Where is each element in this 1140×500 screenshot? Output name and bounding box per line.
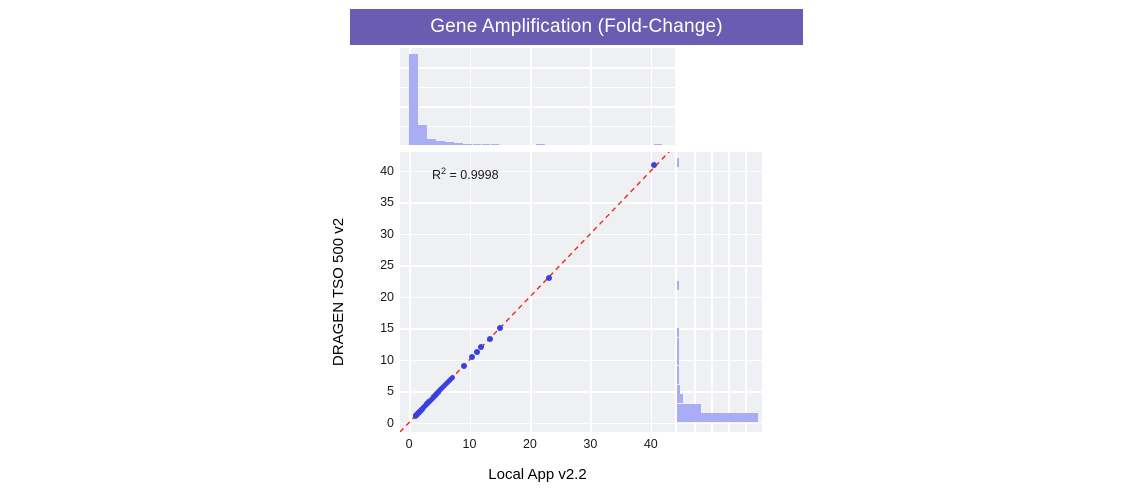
histogram-bar [677,338,679,347]
histogram-bar [491,144,500,146]
gridline-vertical [651,48,653,145]
histogram-bar [427,139,436,145]
r-squared-text: R2 = 0.9998 [432,168,499,182]
gridline-horizontal [400,87,675,89]
histogram-bar [436,141,445,145]
gridline-horizontal [400,234,675,236]
histogram-bar [454,143,463,145]
chart-title-bar: Gene Amplification (Fold-Change) [350,9,803,45]
gridline-horizontal [677,328,762,330]
top-marginal-histogram-panel [400,48,675,145]
histogram-bar [677,356,679,365]
gridline-horizontal [677,202,762,204]
histogram-bar [677,394,683,403]
gridline-vertical [470,152,472,432]
histogram-bar [418,125,427,145]
gridline-horizontal [400,328,675,330]
gridline-vertical [728,152,730,432]
gridline-horizontal [400,67,675,69]
gridline-vertical [590,152,592,432]
histogram-bar [677,347,679,356]
gridline-horizontal [677,391,762,393]
x-tick-label: 10 [450,437,490,451]
histogram-bar [677,366,679,375]
y-tick-label: 10 [354,353,394,367]
histogram-bar [536,144,545,146]
x-tick-label: 20 [510,437,550,451]
histogram-bar [677,328,679,337]
histogram-bar [677,375,679,384]
y-tick-label: 40 [354,164,394,178]
scatter-point [478,344,484,350]
scatter-point [461,363,467,369]
gridline-horizontal [400,423,675,425]
gridline-vertical [711,152,713,432]
histogram-bar [677,413,758,422]
gridline-horizontal [400,106,675,108]
gridline-vertical [530,48,532,145]
y-axis-tick-labels: 0510152025303540 [352,152,394,432]
y-tick-label: 20 [354,290,394,304]
histogram-bar [677,385,680,394]
gridline-horizontal [400,297,675,299]
gridline-horizontal [677,234,762,236]
gridline-horizontal [677,297,762,299]
gridline-horizontal [400,126,675,128]
histogram-bar [473,144,482,146]
gridline-vertical [694,152,696,432]
y-tick-label: 5 [354,384,394,398]
gridline-horizontal [400,202,675,204]
gridline-horizontal [677,171,762,173]
histogram-bar [677,281,679,290]
gridline-vertical [590,48,592,145]
x-tick-label: 40 [631,437,671,451]
y-axis-title: DRAGEN TSO 500 v2 [330,152,350,432]
histogram-bar [677,404,701,413]
r-squared-annotation: R2 = 0.9998 [432,166,499,182]
gridline-horizontal [677,265,762,267]
chart-figure: Gene Amplification (Fold-Change) R2 = 0.… [0,0,1140,500]
histogram-bar [482,144,491,146]
gridline-horizontal [400,360,675,362]
gridline-vertical [470,48,472,145]
histogram-bar [409,54,418,145]
x-tick-label: 0 [389,437,429,451]
x-tick-label: 30 [570,437,610,451]
x-axis-tick-labels: 010203040 [400,437,675,457]
gridline-vertical [651,152,653,432]
histogram-bar [677,158,679,167]
y-tick-label: 25 [354,258,394,272]
scatter-point [497,325,503,331]
histogram-bar [463,144,472,146]
y-tick-label: 35 [354,195,394,209]
scatter-point [487,336,493,342]
scatter-point [450,375,455,380]
scatter-plot-panel: R2 = 0.9998 [400,152,675,432]
page-title: Gene Amplification (Fold-Change) [430,16,723,38]
gridline-vertical [530,152,532,432]
gridline-vertical [745,152,747,432]
gridline-horizontal [677,423,762,425]
y-tick-label: 30 [354,227,394,241]
gridline-vertical [409,152,411,432]
right-marginal-histogram-panel [677,152,762,432]
scatter-point [651,162,657,168]
y-tick-label: 0 [354,416,394,430]
scatter-point [546,275,552,281]
histogram-bar [654,144,663,146]
x-axis-title: Local App v2.2 [400,466,675,483]
y-tick-label: 15 [354,321,394,335]
gridline-horizontal [400,265,675,267]
histogram-bar [445,142,454,145]
gridline-horizontal [677,360,762,362]
